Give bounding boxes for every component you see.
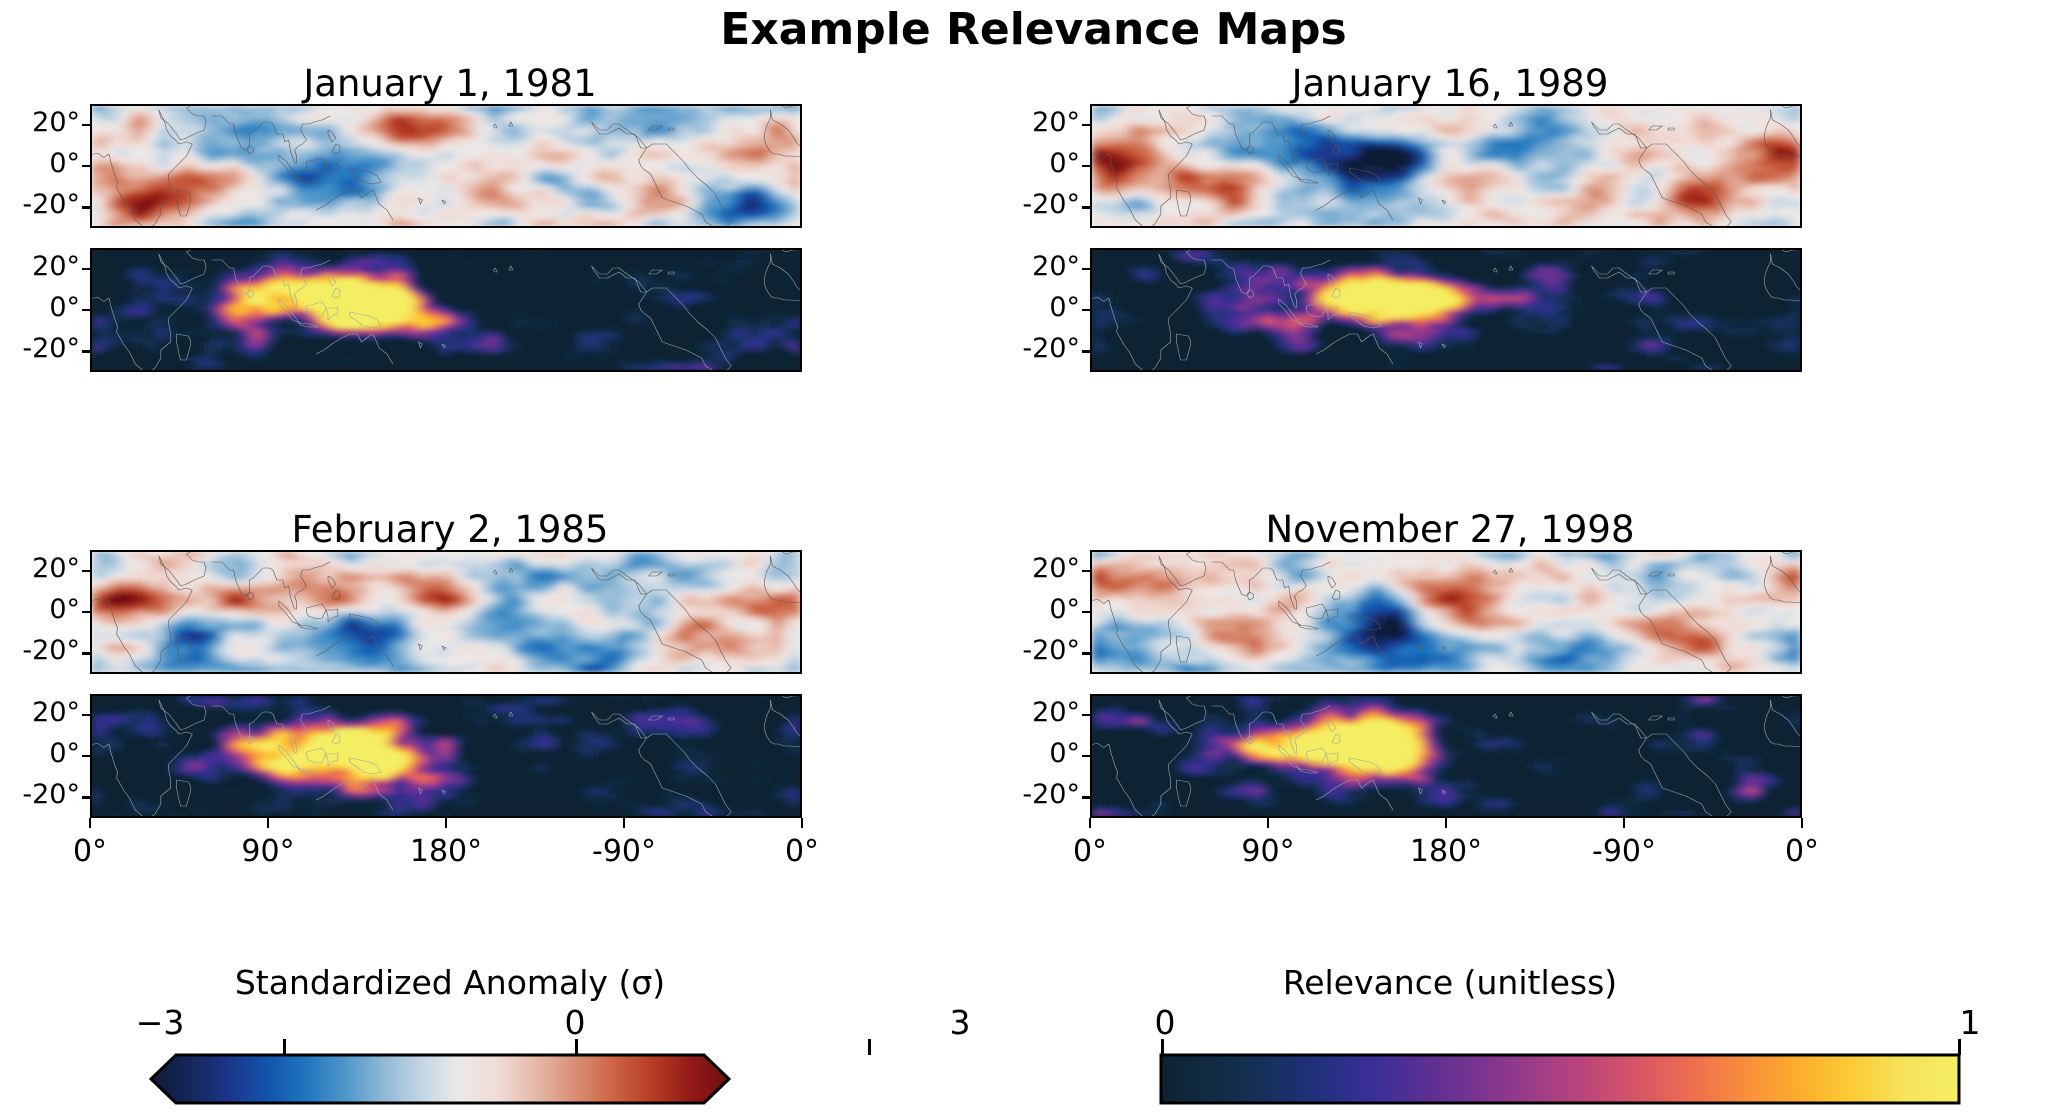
x-axis-tick-label: -90° [1564,834,1684,869]
y-axis-tick-label: -20° [0,779,80,810]
y-axis-tick-mark [82,350,91,352]
y-axis-tick-label: 0° [994,594,1080,625]
y-axis-tick-mark [1082,268,1091,270]
colorbar-tick-mark [283,1039,286,1055]
x-axis-tick-label: -90° [564,834,684,869]
x-axis-tick-label: 180° [1386,834,1506,869]
colorbar-tick-mark [1958,1039,1961,1055]
colorbar-relevance[interactable] [1160,1053,1960,1105]
colorbar-tick-anomaly-mid: 0 [530,1003,620,1042]
y-axis-tick-mark [1082,755,1091,757]
figure-title: Example Relevance Maps [0,4,2067,55]
y-axis-tick-mark [1082,309,1091,311]
colorbar-tick-anomaly-min: −3 [115,1003,205,1042]
anomaly-map-january-16-1989[interactable] [1090,104,1802,228]
x-axis-tick-mark [801,818,803,828]
y-axis-tick-label: 20° [0,251,80,282]
colorbar-tick-mark [575,1039,578,1055]
relevance-map-february-2-1985[interactable] [90,694,802,818]
y-axis-tick-mark [1082,796,1091,798]
y-axis-tick-label: -20° [0,189,80,220]
panel-title-bottom-left: February 2, 1985 [90,508,810,551]
y-axis-tick-label: -20° [994,635,1080,666]
y-axis-tick-label: 20° [994,697,1080,728]
panel-title-top-left: January 1, 1981 [90,62,810,105]
anomaly-map-january-1-1981[interactable] [90,104,802,228]
colorbar-tick-relevance-max: 1 [1925,1003,2015,1042]
relevance-map-november-27-1998[interactable] [1090,694,1802,818]
y-axis-tick-mark [82,268,91,270]
colorbar-tick-mark [868,1039,871,1055]
y-axis-tick-label: 0° [0,292,80,323]
y-axis-tick-label: -20° [0,635,80,666]
anomaly-map-november-27-1998[interactable] [1090,550,1802,674]
x-axis-tick-mark [1445,818,1447,828]
y-axis-tick-label: 20° [994,107,1080,138]
y-axis-tick-label: 20° [994,553,1080,584]
y-axis-tick-mark [1082,124,1091,126]
x-axis-tick-mark [445,818,447,828]
y-axis-tick-mark [1082,611,1091,613]
y-axis-tick-mark [82,611,91,613]
x-axis-tick-mark [1623,818,1625,828]
colorbar-anomaly[interactable] [150,1053,730,1105]
x-axis-tick-mark [1089,818,1091,828]
y-axis-tick-label: 0° [0,148,80,179]
x-axis-tick-label: 90° [208,834,328,869]
anomaly-map-february-2-1985[interactable] [90,550,802,674]
colorbar-tick-mark [1161,1039,1164,1055]
y-axis-tick-label: 0° [994,738,1080,769]
panel-title-bottom-right: November 27, 1998 [1090,508,1810,551]
x-axis-tick-mark [1267,818,1269,828]
y-axis-tick-label: 20° [994,251,1080,282]
y-axis-tick-mark [82,124,91,126]
x-axis-tick-label: 180° [386,834,506,869]
x-axis-tick-label: 90° [1208,834,1328,869]
x-axis-tick-label: 0° [1742,834,1862,869]
colorbar-tick-relevance-min: 0 [1120,1003,1210,1042]
relevance-map-january-16-1989[interactable] [1090,248,1802,372]
y-axis-tick-mark [82,714,91,716]
colorbar-label-relevance: Relevance (unitless) [1090,963,1810,1002]
y-axis-tick-mark [82,165,91,167]
x-axis-tick-mark [267,818,269,828]
y-axis-tick-label: 0° [994,148,1080,179]
x-axis-tick-label: 0° [742,834,862,869]
y-axis-tick-label: 0° [0,738,80,769]
y-axis-tick-mark [1082,165,1091,167]
y-axis-tick-mark [82,652,91,654]
y-axis-tick-mark [1082,350,1091,352]
y-axis-tick-mark [1082,652,1091,654]
y-axis-tick-label: 20° [0,553,80,584]
y-axis-tick-label: -20° [994,333,1080,364]
colorbar-tick-anomaly-max: 3 [915,1003,1005,1042]
y-axis-tick-mark [82,570,91,572]
x-axis-tick-label: 0° [30,834,150,869]
y-axis-tick-label: -20° [0,333,80,364]
y-axis-tick-label: 20° [0,107,80,138]
y-axis-tick-mark [82,796,91,798]
x-axis-tick-mark [623,818,625,828]
y-axis-tick-mark [1082,206,1091,208]
figure-canvas: Example Relevance Maps January 1, 1981 J… [0,0,2067,1118]
panel-title-top-right: January 16, 1989 [1090,62,1810,105]
y-axis-tick-mark [82,755,91,757]
relevance-map-january-1-1981[interactable] [90,248,802,372]
y-axis-tick-mark [82,206,91,208]
x-axis-tick-label: 0° [1030,834,1150,869]
x-axis-tick-mark [1801,818,1803,828]
y-axis-tick-label: -20° [994,779,1080,810]
y-axis-tick-mark [1082,570,1091,572]
colorbar-label-anomaly: Standardized Anomaly (σ) [90,963,810,1002]
y-axis-tick-label: -20° [994,189,1080,220]
y-axis-tick-label: 0° [994,292,1080,323]
y-axis-tick-mark [82,309,91,311]
x-axis-tick-mark [89,818,91,828]
y-axis-tick-mark [1082,714,1091,716]
y-axis-tick-label: 0° [0,594,80,625]
y-axis-tick-label: 20° [0,697,80,728]
